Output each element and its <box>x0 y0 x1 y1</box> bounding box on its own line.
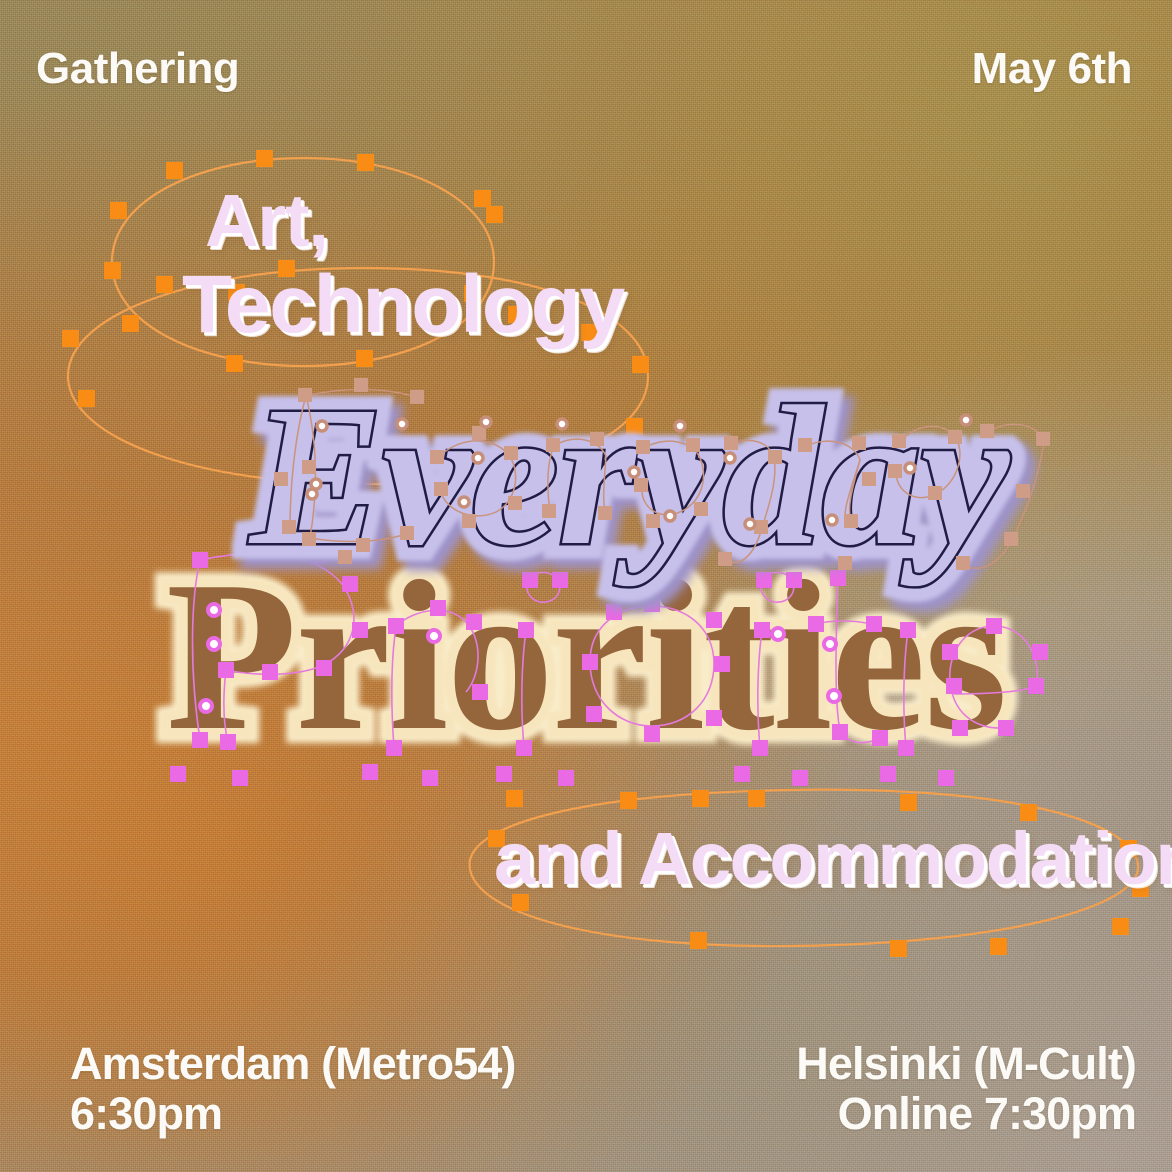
topic-line-technology: Technology <box>182 258 624 352</box>
topic-line-art: Art, <box>205 178 328 263</box>
poster-kicker: Gathering <box>36 44 239 94</box>
everyday-fill: Everyday <box>250 362 1008 592</box>
headline-everyday: Everyday Everyday Everyday <box>250 362 990 592</box>
poster-date: May 6th <box>972 44 1132 94</box>
venue-amsterdam: Amsterdam (Metro54) 6:30pm <box>70 1039 516 1138</box>
headline-accommodations: and Accommodations <box>494 816 1172 901</box>
event-poster: Gathering May 6th <box>0 0 1172 1172</box>
venue-helsinki: Helsinki (M-Cult) Online 7:30pm <box>796 1039 1136 1138</box>
